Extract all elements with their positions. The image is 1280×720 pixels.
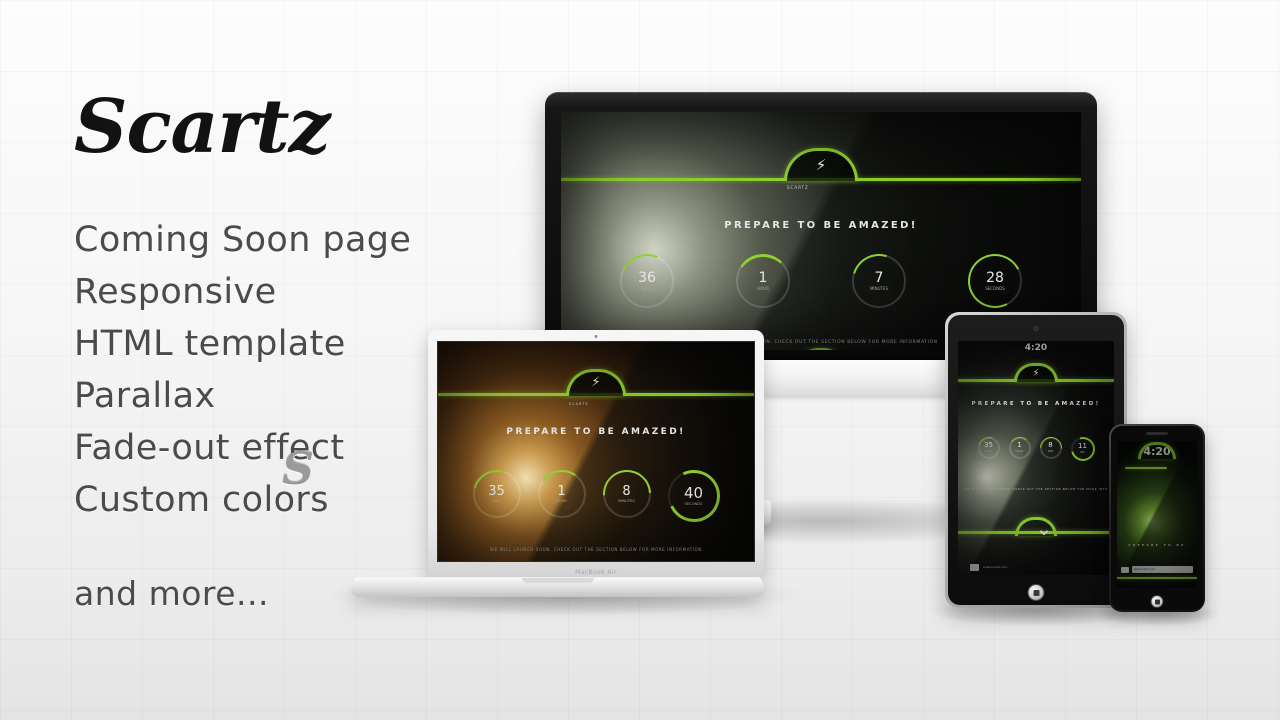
countdown-ring-progress <box>660 463 727 530</box>
countdown-hours: 1 HOUR <box>736 254 790 308</box>
phone-home-button[interactable] <box>1151 595 1164 608</box>
countdown-minutes: 8 MIN <box>1040 437 1062 459</box>
laptop-footnote: WE WILL LAUNCH SOON. CHECK OUT THE SECTI… <box>438 547 754 552</box>
tablet-browser-bar[interactable]: www.scartz.com <box>970 562 1102 572</box>
tablet-footnote: WE WILL LAUNCH SOON. CHECK OUT THE SECTI… <box>958 487 1114 491</box>
countdown-days: 35 DAYS <box>473 470 521 518</box>
laptop-tagline: PREPARE TO BE AMAZED! <box>438 427 754 437</box>
countdown-ring-progress <box>534 466 590 522</box>
countdown-ring-progress <box>842 244 915 317</box>
countdown-seconds: 28 SECONDS <box>968 254 1022 308</box>
countdown-minutes: 8 MINUTES <box>603 470 651 518</box>
countdown-ring-progress <box>1035 432 1066 463</box>
laptop-lid: ⚡ SCARTZ PREPARE TO BE AMAZED! 35 DAYS 1 <box>428 330 764 578</box>
phone-url-label[interactable]: www.scartz.com <box>1134 568 1155 571</box>
phone-device: 4:20 PREPARE TO BE www.scartz.com <box>1109 424 1205 612</box>
chevron-down-icon[interactable]: ⌄ <box>1036 518 1052 540</box>
countdown-hours: 1 HOUR <box>538 470 586 518</box>
tablet-countdown: 35 DAYS 1 HOUR 8 M <box>958 437 1114 461</box>
countdown-ring-progress <box>593 460 661 528</box>
tablet-device: 4:20 ⚡ PREPARE TO BE AMAZED! 35 DAYS <box>945 312 1127 608</box>
tablet-body: 4:20 ⚡ PREPARE TO BE AMAZED! 35 DAYS <box>948 315 1124 605</box>
phone-body: 4:20 PREPARE TO BE www.scartz.com <box>1111 426 1203 610</box>
countdown-ring-progress <box>733 251 792 310</box>
phone-url-pill[interactable]: www.scartz.com <box>1132 566 1193 573</box>
laptop-device: ⚡ SCARTZ PREPARE TO BE AMAZED! 35 DAYS 1 <box>352 330 764 610</box>
monitor-tagline: PREPARE TO BE AMAZED! <box>561 220 1081 231</box>
phone-tagline: PREPARE TO BE <box>1117 543 1197 547</box>
page-title: Scartz <box>74 86 504 168</box>
countdown-ring-progress <box>961 247 1029 315</box>
monitor-logo-s: S <box>274 444 322 500</box>
laptop-notch <box>522 578 594 583</box>
countdown-days: 36 DAYS <box>620 254 674 308</box>
header-green-rule <box>1125 467 1167 469</box>
countdown-hours: 1 HOUR <box>1009 437 1031 459</box>
tablet-camera-icon <box>1034 326 1039 331</box>
logo-wordmark: SCARTZ <box>787 185 809 190</box>
tablet-screen-scene: 4:20 ⚡ PREPARE TO BE AMAZED! 35 DAYS <box>958 341 1114 575</box>
tablet-home-button[interactable] <box>1028 584 1045 601</box>
logo-wordmark: SCARTZ <box>569 402 589 406</box>
countdown-ring-progress <box>1007 436 1032 461</box>
countdown-days: 35 DAYS <box>978 437 1000 459</box>
tablet-tagline: PREPARE TO BE AMAZED! <box>958 401 1114 407</box>
monitor-countdown: 36 DAYS 1 HOUR 7 MINUTES <box>561 254 1081 308</box>
countdown-seconds: 11 SEC <box>1071 437 1095 461</box>
countdown-seconds: 40 SECONDS <box>668 470 720 522</box>
laptop-screen-scene: ⚡ SCARTZ PREPARE TO BE AMAZED! 35 DAYS 1 <box>438 342 754 561</box>
phone-screen: 4:20 PREPARE TO BE www.scartz.com <box>1117 441 1197 588</box>
feature-item-responsive: Responsive <box>74 266 504 318</box>
phone-bezel: 4:20 PREPARE TO BE www.scartz.com <box>1109 424 1205 612</box>
countdown-minutes: 7 MINUTES <box>852 254 906 308</box>
phone-screen-scene: 4:20 PREPARE TO BE www.scartz.com <box>1117 441 1197 588</box>
lightning-bolt-icon: ⚡ <box>787 156 855 174</box>
laptop-countdown: 35 DAYS 1 HOUR 8 MINUTES <box>438 470 754 522</box>
lightning-bolt-icon: ⚡ <box>1017 368 1055 379</box>
lightning-bolt-icon: ⚡ <box>569 375 623 390</box>
tablet-screen: 4:20 ⚡ PREPARE TO BE AMAZED! 35 DAYS <box>958 341 1114 575</box>
laptop-camera-icon <box>595 335 598 338</box>
tablet-bezel: 4:20 ⚡ PREPARE TO BE AMAZED! 35 DAYS <box>945 312 1127 608</box>
countdown-ring-progress <box>974 433 1003 462</box>
feature-item-coming-soon: Coming Soon page <box>74 214 504 266</box>
browser-icon <box>1121 567 1129 573</box>
countdown-ring-progress <box>1066 433 1099 466</box>
chevron-down-icon[interactable]: ⌄ <box>821 343 843 350</box>
footer-green-rule <box>1117 577 1197 579</box>
tablet-url-label[interactable]: www.scartz.com <box>983 565 1007 569</box>
browser-icon <box>970 564 979 571</box>
phone-speaker <box>1146 432 1168 435</box>
laptop-brand-label: MacBook Air <box>428 569 764 576</box>
phone-browser-bar[interactable]: www.scartz.com <box>1121 565 1193 574</box>
countdown-ring-progress <box>612 246 682 316</box>
countdown-ring-progress <box>464 461 530 527</box>
laptop-screen: ⚡ SCARTZ PREPARE TO BE AMAZED! 35 DAYS 1 <box>437 341 755 562</box>
tablet-status-time: 4:20 <box>958 343 1114 353</box>
